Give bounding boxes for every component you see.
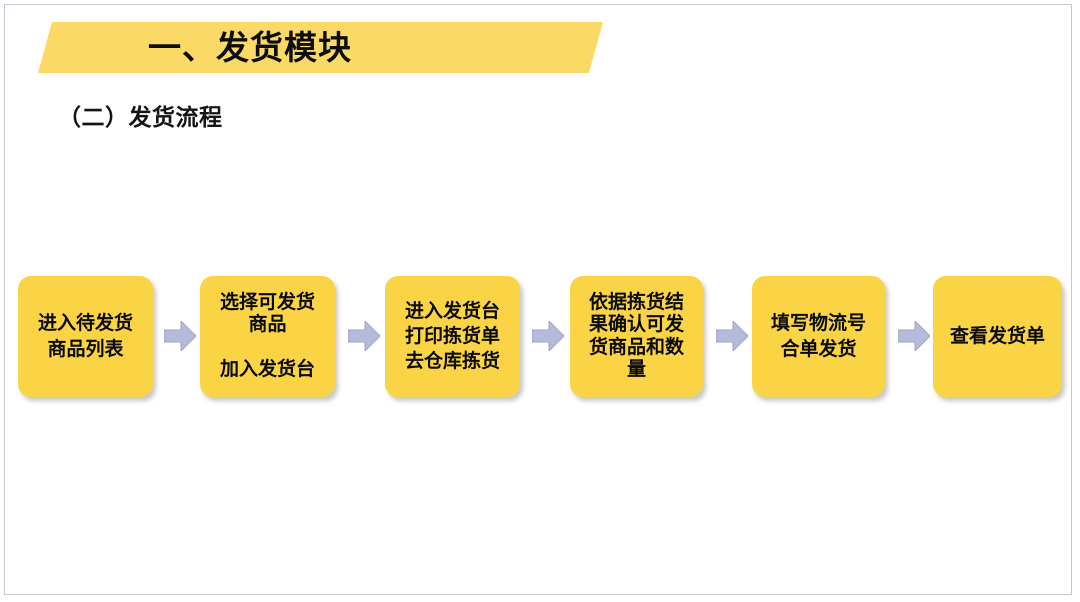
presentation-slide: 一、发货模块 （二）发货流程 进入待发货 商品列表 选择可发货 商品 加入发货台… (0, 0, 1080, 602)
arrow-right-icon (348, 321, 380, 351)
flow-step-6-label: 查看发货单 (944, 324, 1051, 349)
arrow-right-icon (164, 321, 196, 351)
flow-step-1-label: 进入待发货 商品列表 (32, 311, 139, 361)
flow-step-3-label: 进入发货台 打印拣货单 去仓库拣货 (399, 299, 506, 374)
flow-step-2-label: 选择可发货 商品 加入发货台 (214, 292, 321, 380)
title-banner: 一、发货模块 (38, 22, 603, 73)
flow-step-5-label: 填写物流号 合单发货 (765, 311, 872, 361)
page-title: 一、发货模块 (148, 22, 352, 73)
flow-step-3[interactable]: 进入发货台 打印拣货单 去仓库拣货 (385, 276, 520, 397)
process-flow-diagram: 进入待发货 商品列表 选择可发货 商品 加入发货台 进入发货台 打印拣货单 去仓… (0, 276, 1080, 401)
section-subtitle: （二）发货流程 (58, 98, 223, 132)
arrow-right-icon (532, 321, 564, 351)
flow-step-4-label: 依据拣货结 果确认可发 货商品和数 量 (583, 292, 690, 380)
flow-step-6[interactable]: 查看发货单 (933, 276, 1062, 397)
flow-step-5[interactable]: 填写物流号 合单发货 (752, 276, 885, 397)
arrow-right-icon (898, 321, 930, 351)
flow-step-2[interactable]: 选择可发货 商品 加入发货台 (200, 276, 335, 397)
flow-step-4[interactable]: 依据拣货结 果确认可发 货商品和数 量 (570, 276, 703, 397)
flow-step-1[interactable]: 进入待发货 商品列表 (18, 276, 153, 397)
arrow-right-icon (716, 321, 748, 351)
